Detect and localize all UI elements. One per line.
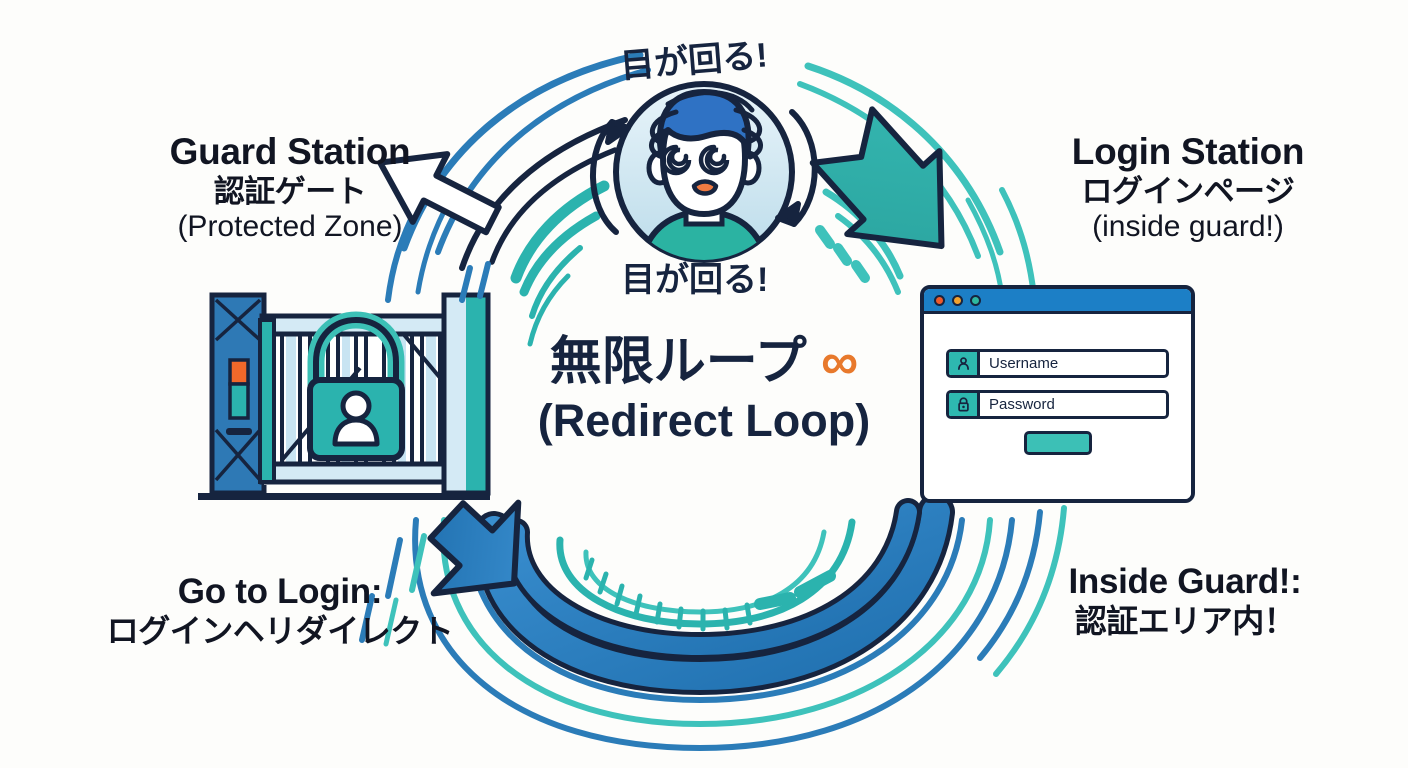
label-guard-station: Guard Station 認証ゲート (Protected Zone) bbox=[120, 131, 460, 245]
center-caption-line2: (Redirect Loop) bbox=[504, 395, 904, 447]
inside-guard-jp: 認証エリア内！ bbox=[1020, 603, 1350, 640]
go-to-login-title: Go to Login: bbox=[90, 572, 470, 613]
browser-frame: Username Password bbox=[920, 285, 1195, 503]
minimize-dot[interactable] bbox=[952, 295, 963, 306]
guard-station-note: (Protected Zone) bbox=[120, 210, 460, 245]
go-to-login-jp: ログインヘリダイレクト bbox=[90, 613, 470, 650]
lock-icon bbox=[949, 393, 980, 416]
login-station-jp: ログインページ bbox=[1028, 174, 1348, 210]
password-field-label: Password bbox=[980, 393, 1166, 416]
diagram-canvas: Guard Station 認証ゲート (Protected Zone) Log… bbox=[0, 0, 1408, 768]
label-go-to-login: Go to Login: ログインヘリダイレクト bbox=[90, 572, 470, 650]
infinity-icon: ∞ bbox=[821, 333, 858, 391]
browser-body: Username Password bbox=[924, 317, 1191, 499]
label-login-station: Login Station ログインページ (inside guard!) bbox=[1028, 131, 1348, 245]
maximize-dot[interactable] bbox=[970, 295, 981, 306]
dizzy-text-bottom: 目が回る! bbox=[621, 252, 768, 301]
label-inside-guard: Inside Guard!: 認証エリア内！ bbox=[1020, 562, 1350, 640]
close-dot[interactable] bbox=[934, 295, 945, 306]
password-field[interactable]: Password bbox=[946, 390, 1169, 419]
login-submit-button[interactable] bbox=[1024, 431, 1092, 455]
guard-station-title: Guard Station bbox=[120, 131, 460, 174]
guard-station-jp: 認証ゲート bbox=[120, 174, 460, 210]
username-field[interactable]: Username bbox=[946, 349, 1169, 378]
browser-titlebar bbox=[924, 289, 1191, 314]
user-icon bbox=[949, 352, 980, 375]
login-browser-window[interactable]: Username Password bbox=[920, 285, 1195, 503]
login-station-title: Login Station bbox=[1028, 131, 1348, 174]
gate-with-padlock-icon bbox=[198, 264, 490, 500]
center-caption-jp: 無限ループ bbox=[550, 333, 807, 391]
username-field-label: Username bbox=[980, 352, 1166, 375]
inside-guard-title: Inside Guard!: bbox=[1020, 562, 1350, 603]
center-caption-line1: 無限ループ ∞ bbox=[504, 336, 904, 389]
center-caption: 無限ループ ∞ (Redirect Loop) bbox=[504, 336, 904, 447]
login-station-note: (inside guard!) bbox=[1028, 210, 1348, 245]
